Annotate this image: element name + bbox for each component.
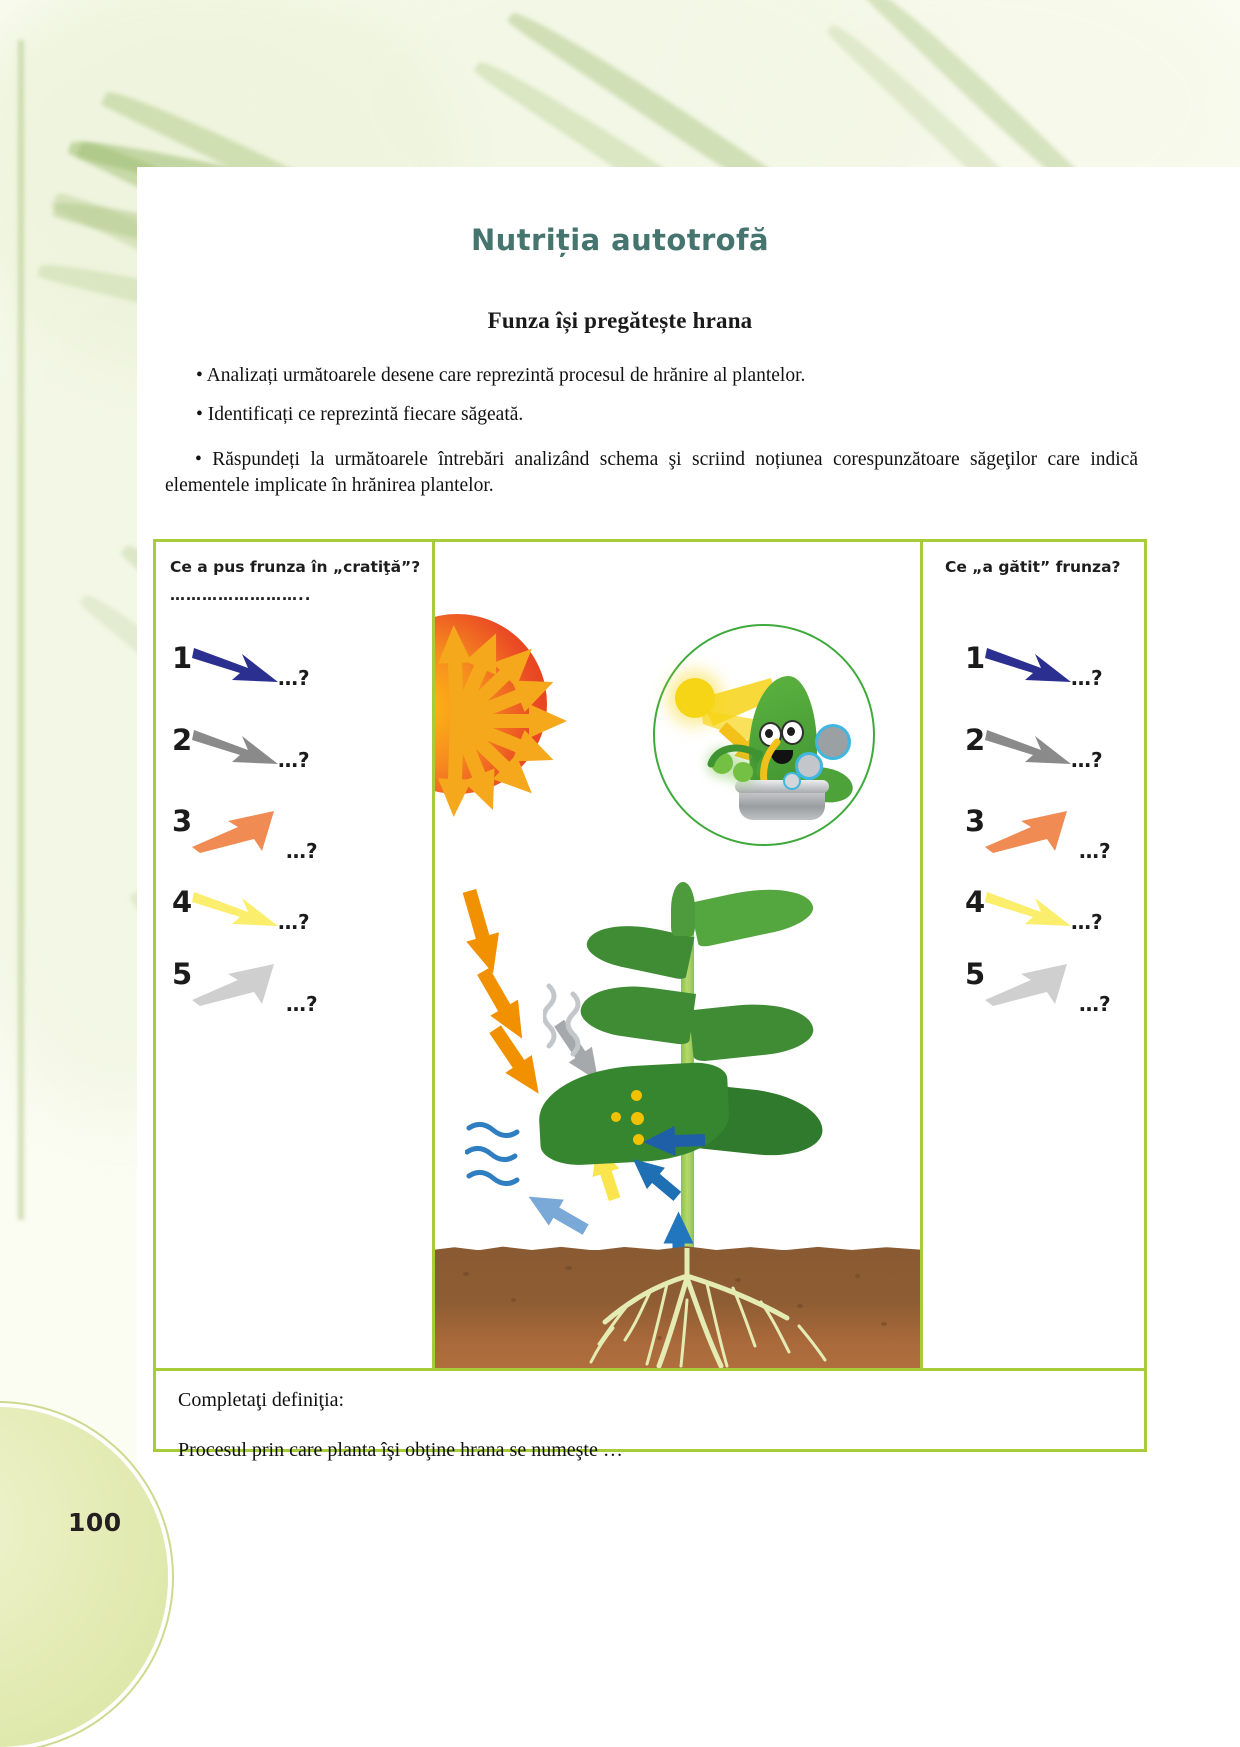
arrow-number: 1 xyxy=(965,644,987,673)
page-title: Nutriția autotrofă xyxy=(0,223,1240,257)
arrow-answer-placeholder: …? xyxy=(278,910,310,934)
arrow-up-right-icon xyxy=(192,960,282,1011)
arrow-number: 3 xyxy=(172,807,194,836)
cooking-pot-rim xyxy=(735,780,829,793)
arrow-answer-placeholder: …? xyxy=(1079,992,1111,1016)
arrow-answer-placeholder: …? xyxy=(286,992,318,1016)
arrow-row[interactable]: 5 …? xyxy=(965,960,1111,1016)
arrow-number: 5 xyxy=(965,960,987,989)
arrow-number: 3 xyxy=(965,807,987,836)
arrow-number: 2 xyxy=(965,726,987,755)
arrow-answer-placeholder: …? xyxy=(1071,910,1103,934)
arrow-number: 2 xyxy=(172,726,194,755)
plant-leaf xyxy=(689,998,816,1062)
chloroplast-dot xyxy=(631,1090,642,1101)
leaf-character-pupil xyxy=(787,727,795,736)
chloroplast-dot xyxy=(611,1112,621,1122)
water-molecule xyxy=(815,724,851,760)
definition-prompt: Completaţi definiţia: xyxy=(178,1389,344,1412)
arrow-number: 1 xyxy=(172,644,194,673)
page-number: 100 xyxy=(68,1508,122,1537)
water-molecule xyxy=(783,772,801,790)
instruction-item: • Analizați următoarele desene care repr… xyxy=(196,363,1136,389)
right-question-column: Ce „a gătit” frunza? 1 …? 2 …? 3 xyxy=(923,542,1144,1368)
arrow-down-right-icon xyxy=(985,888,1075,935)
right-column-heading: Ce „a gătit” frunza? xyxy=(945,558,1121,576)
left-column-heading: Ce a pus frunza în „cratiţă”? xyxy=(170,558,420,576)
sun-ray-icon xyxy=(437,720,474,817)
arrow-answer-placeholder: …? xyxy=(278,748,310,772)
sunlight-arrow-icon xyxy=(478,1020,552,1105)
arrow-number: 5 xyxy=(172,960,194,989)
instruction-item: • Identificați ce reprezintă fiecare săg… xyxy=(196,402,1136,428)
arrow-answer-placeholder: …? xyxy=(1079,839,1111,863)
arrow-row[interactable]: 4 …? xyxy=(172,888,310,935)
frame-top-row: Ce a pus frunza în „cratiţă”? ……………………..… xyxy=(156,542,1144,1368)
arrow-down-right-icon xyxy=(985,644,1075,691)
left-question-column: Ce a pus frunza în „cratiţă”? ……………………..… xyxy=(156,542,435,1368)
photosynthesis-illustration-panel xyxy=(435,542,923,1368)
definition-sentence[interactable]: Procesul prin care planta îşi obţine hra… xyxy=(178,1439,623,1462)
arrow-row[interactable]: 1 …? xyxy=(965,644,1103,691)
plant-leaf xyxy=(671,882,695,936)
arrow-down-right-icon xyxy=(192,888,282,935)
arrow-row[interactable]: 1 …? xyxy=(172,644,310,691)
sunlight-arrow-icon xyxy=(448,886,509,979)
arrow-down-right-icon xyxy=(192,644,282,691)
leaf-chef-inset xyxy=(653,624,875,846)
arrow-row[interactable]: 3 …? xyxy=(965,807,1111,863)
arrow-row[interactable]: 5 …? xyxy=(172,960,318,1016)
instruction-item: • Răspundeți la următoarele întrebări an… xyxy=(165,447,1138,500)
plant-roots xyxy=(555,1248,855,1368)
left-column-answer-line[interactable]: …………………….. xyxy=(170,586,311,604)
transpiration-arrow-icon xyxy=(521,1179,596,1242)
definition-section: Completaţi definiţia: Procesul prin care… xyxy=(156,1368,1144,1449)
illustration xyxy=(435,542,920,1368)
arrow-up-right-icon xyxy=(985,960,1075,1011)
arrow-answer-placeholder: …? xyxy=(286,839,318,863)
co2-flow-icon xyxy=(707,740,763,770)
arrow-up-right-icon xyxy=(192,807,282,858)
arrow-answer-placeholder: …? xyxy=(1071,666,1103,690)
page-subtitle: Funza își pregătește hrana xyxy=(0,308,1240,334)
arrow-row[interactable]: 2 …? xyxy=(965,726,1103,773)
arrow-down-right-icon xyxy=(192,726,282,773)
worksheet-frame: Ce a pus frunza în „cratiţă”? ……………………..… xyxy=(153,539,1147,1452)
arrow-answer-placeholder: …? xyxy=(278,666,310,690)
arrow-number: 4 xyxy=(965,888,987,917)
plant-leaf xyxy=(690,878,817,948)
arrow-up-right-icon xyxy=(985,807,1075,858)
arrow-down-right-icon xyxy=(985,726,1075,773)
arrow-number: 4 xyxy=(172,888,194,917)
arrow-row[interactable]: 2 …? xyxy=(172,726,310,773)
arrow-row[interactable]: 3 …? xyxy=(172,807,318,863)
arrow-row[interactable]: 4 …? xyxy=(965,888,1103,935)
arrow-answer-placeholder: …? xyxy=(1071,748,1103,772)
